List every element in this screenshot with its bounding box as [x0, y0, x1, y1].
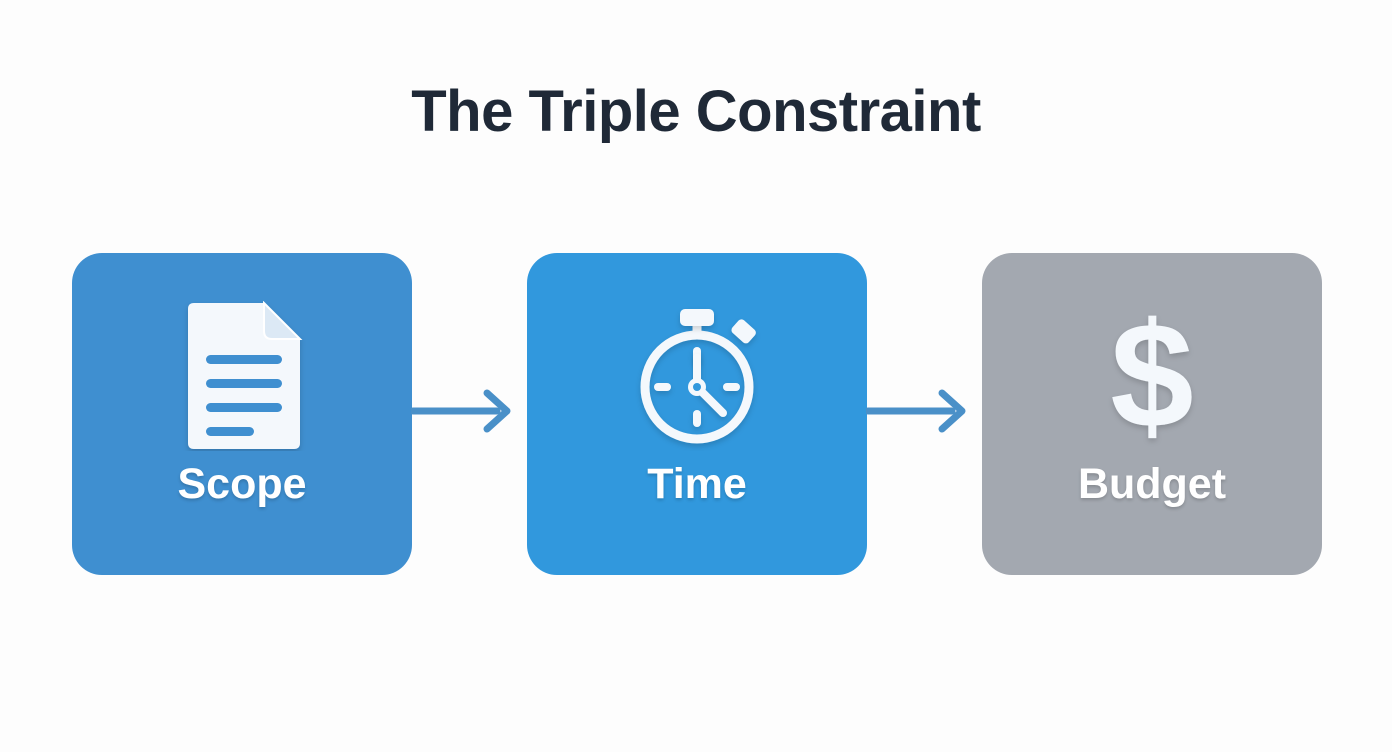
arrow-right-icon [866, 389, 976, 433]
arrow-right-icon [411, 389, 521, 433]
dollar-sign-icon: $ [1092, 301, 1212, 451]
constraint-card-label: Scope [177, 463, 306, 506]
constraint-card-label: Budget [1078, 463, 1226, 506]
constraint-card-scope[interactable]: Scope [72, 253, 412, 575]
document-icon [178, 301, 306, 451]
constraint-card-budget[interactable]: $ Budget [982, 253, 1322, 575]
constraint-card-time[interactable]: Time [527, 253, 867, 575]
page-title: The Triple Constraint [0, 83, 1392, 141]
stopwatch-icon [622, 301, 772, 451]
constraint-card-label: Time [647, 463, 747, 506]
svg-text:$: $ [1110, 301, 1193, 451]
constraint-card-row: Scope [0, 253, 1392, 575]
triple-constraint-diagram: The Triple Constraint [0, 0, 1392, 752]
